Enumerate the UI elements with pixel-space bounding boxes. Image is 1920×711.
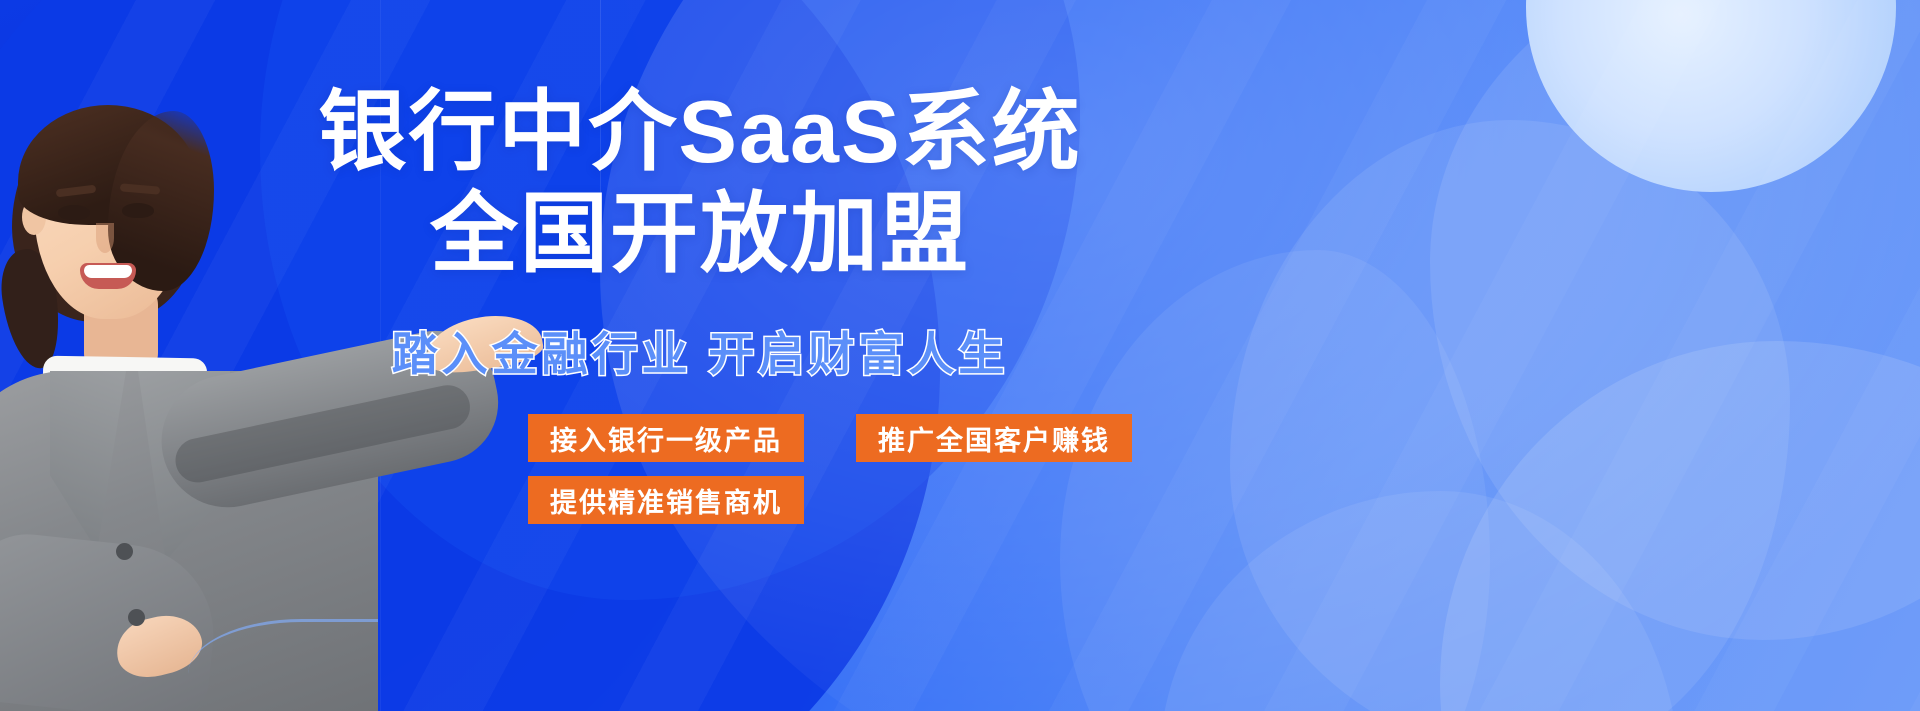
feature-tag-group: 接入银行一级产品 推广全国客户赚钱 提供精准销售商机 xyxy=(528,414,1348,538)
feature-tag-bank-products[interactable]: 接入银行一级产品 xyxy=(528,414,804,462)
promo-banner: 银行中介SaaS系统 全国开放加盟 踏入金融行业 开启财富人生 接入银行一级产品… xyxy=(0,0,1920,711)
feature-tag-sales-leads[interactable]: 提供精准销售商机 xyxy=(528,476,804,524)
feature-tag-row-2: 提供精准销售商机 xyxy=(528,476,1348,524)
banner-subtitle: 踏入金融行业 开启财富人生 xyxy=(0,318,1400,384)
feature-tag-row-1: 接入银行一级产品 推广全国客户赚钱 xyxy=(528,414,1348,462)
feature-tag-nationwide-customers[interactable]: 推广全国客户赚钱 xyxy=(856,414,1132,462)
banner-content: 银行中介SaaS系统 全国开放加盟 踏入金融行业 开启财富人生 接入银行一级产品… xyxy=(0,0,1920,711)
headline-line-1: 银行中介SaaS系统 xyxy=(0,88,1400,176)
headline-line-2: 全国开放加盟 xyxy=(0,190,1400,278)
